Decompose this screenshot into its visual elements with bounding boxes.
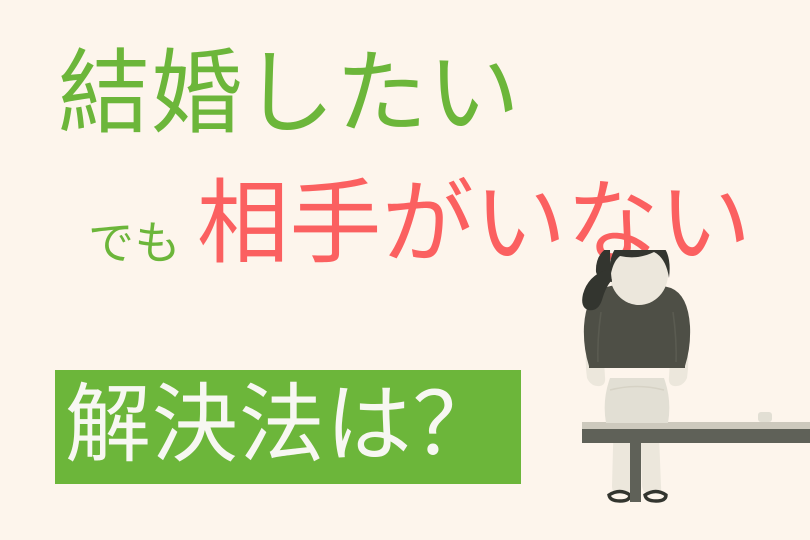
solution-label: 解決法は？	[65, 382, 499, 468]
headline-line-1: 結婚したい	[58, 48, 520, 140]
headline-conjunction: でも	[88, 220, 181, 266]
woman-sitting-on-bench-illustration	[550, 250, 810, 540]
solution-highlight-box: 解決法は？	[55, 370, 521, 484]
bench-object-icon	[758, 412, 772, 422]
banner-root: 結婚したい でも 相手がいない 解決法は？	[0, 0, 810, 540]
shirt-hem	[589, 362, 685, 368]
bench-seat	[582, 422, 810, 443]
skirt	[605, 378, 670, 423]
